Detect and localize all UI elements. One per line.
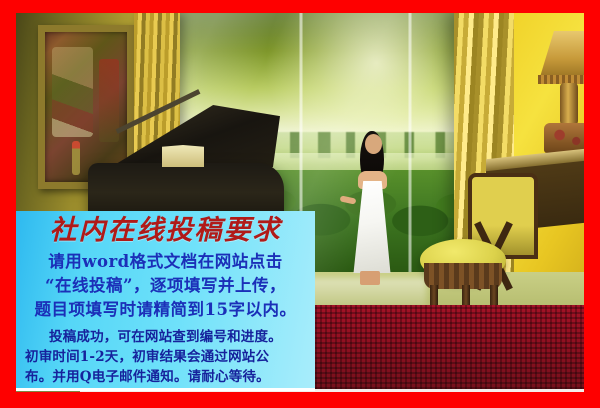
notice-paragraph-1: 请用word格式文档在网站点击 “在线投稿”，逐项填写并上传， 题目项填写时请精… (22, 250, 309, 322)
notice-p1-line-1: 请用word格式文档在网站点击 (22, 250, 309, 274)
woman-legs (360, 271, 380, 285)
notice-p1-line-3: 题目项填写时请精简到15字以内。 (22, 298, 309, 322)
notice-title: 社内在线投稿要求 (22, 214, 309, 248)
window-mullion (408, 13, 412, 283)
lamp-base (560, 83, 578, 125)
notice-p2-line-3: 布。并用Q电子邮件通知。请耐心等待。 (25, 367, 309, 387)
sheet-music (162, 145, 204, 167)
notice-p1-line-2: “在线投稿”，逐项填写并上传， (22, 274, 309, 298)
woman-dress (350, 181, 394, 273)
notice-paragraph-2: 投稿成功，可在网站查到编号和进度。 初审时间1-2天，初审结果会通过网站公 布。… (22, 327, 309, 387)
woman-white-dress (338, 131, 400, 283)
notice-p2-line-1: 投稿成功，可在网站查到编号和进度。 (25, 327, 309, 347)
woman-arm (340, 195, 357, 204)
woman-head (365, 134, 382, 154)
flower-vase (72, 141, 80, 175)
poster-root: 社内在线投稿要求 请用word格式文档在网站点击 “在线投稿”，逐项填写并上传，… (0, 0, 600, 408)
notice-box: 社内在线投稿要求 请用word格式文档在网站点击 “在线投稿”，逐项填写并上传，… (16, 211, 315, 391)
notice-p2-line-2: 初审时间1-2天，初审结果会通过网站公 (25, 347, 309, 367)
